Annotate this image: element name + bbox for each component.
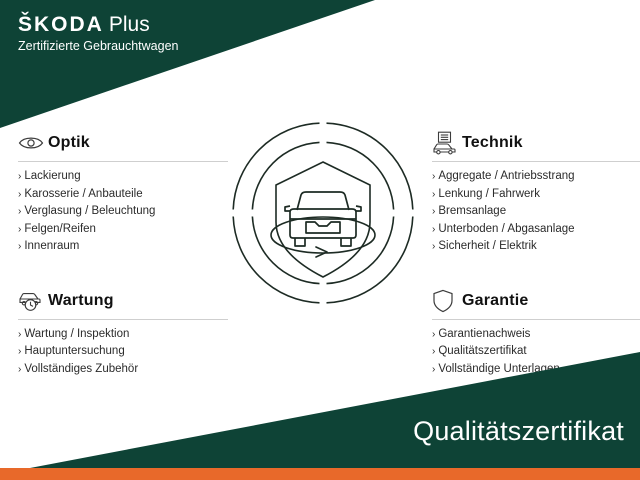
chevron-icon: ›: [432, 327, 435, 344]
logo-skoda-wordmark: ŠKODA: [18, 13, 104, 36]
brand-logo: ŠKODAPlus Zertifizierte Gebrauchtwagen: [18, 12, 179, 54]
list-item: ›Innenraum: [18, 238, 228, 256]
section-wartung-header: Wartung: [18, 288, 228, 314]
list-item: ›Felgen/Reifen: [18, 221, 228, 239]
chevron-icon: ›: [18, 169, 21, 186]
chevron-icon: ›: [432, 344, 435, 361]
chevron-icon: ›: [18, 204, 21, 221]
car-service-clock-icon: [18, 289, 48, 313]
section-divider: [18, 161, 228, 162]
section-divider: [432, 161, 640, 162]
chevron-icon: ›: [18, 362, 21, 379]
chevron-icon: ›: [432, 362, 435, 379]
list-item-label: Lackierung: [24, 168, 80, 185]
chevron-icon: ›: [432, 187, 435, 204]
chevron-icon: ›: [432, 204, 435, 221]
section-technik-list: ›Aggregate / Antriebsstrang ›Lenkung / F…: [432, 168, 640, 256]
list-item: ›Karosserie / Anbauteile: [18, 186, 228, 204]
list-item: ›Sicherheit / Elektrik: [432, 238, 640, 256]
chevron-icon: ›: [18, 327, 21, 344]
chevron-icon: ›: [18, 344, 21, 361]
list-item-label: Unterboden / Abgasanlage: [438, 221, 574, 238]
eye-icon: [18, 131, 48, 155]
list-item: ›Qualitätszertifikat: [432, 343, 640, 361]
right-column: Technik ›Aggregate / Antriebsstrang ›Len…: [432, 130, 640, 384]
section-divider: [18, 319, 228, 320]
chevron-icon: ›: [18, 222, 21, 239]
list-item-label: Bremsanlage: [438, 203, 506, 220]
section-optik-title: Optik: [48, 134, 90, 152]
logo-primary: ŠKODAPlus: [18, 12, 179, 37]
list-item: ›Verglasung / Beleuchtung: [18, 203, 228, 221]
chevron-icon: ›: [432, 169, 435, 186]
list-item-label: Aggregate / Antriebsstrang: [438, 168, 574, 185]
section-wartung-title: Wartung: [48, 292, 114, 310]
list-item: ›Unterboden / Abgasanlage: [432, 221, 640, 239]
chevron-icon: ›: [18, 187, 21, 204]
list-item-label: Felgen/Reifen: [24, 221, 96, 238]
shield-icon: [432, 289, 462, 313]
logo-plus-wordmark: Plus: [109, 13, 150, 36]
section-technik: Technik ›Aggregate / Antriebsstrang ›Len…: [432, 130, 640, 256]
section-technik-title: Technik: [462, 134, 523, 152]
list-item-label: Qualitätszertifikat: [438, 343, 526, 360]
car-document-icon: [432, 131, 462, 155]
section-wartung-list: ›Wartung / Inspektion ›Hauptuntersuchung…: [18, 326, 228, 379]
list-item-label: Garantienachweis: [438, 326, 530, 343]
list-item: ›Wartung / Inspektion: [18, 326, 228, 344]
section-garantie-header: Garantie: [432, 288, 640, 314]
list-item-label: Verglasung / Beleuchtung: [24, 203, 155, 220]
list-item-label: Innenraum: [24, 238, 79, 255]
list-item-label: Sicherheit / Elektrik: [438, 238, 536, 255]
section-optik-header: Optik: [18, 130, 228, 156]
list-item: ›Lenkung / Fahrwerk: [432, 186, 640, 204]
list-item: ›Lackierung: [18, 168, 228, 186]
section-garantie-title: Garantie: [462, 292, 529, 310]
list-item: ›Bremsanlage: [432, 203, 640, 221]
list-item-label: Wartung / Inspektion: [24, 326, 129, 343]
logo-tagline: Zertifizierte Gebrauchtwagen: [18, 38, 179, 54]
list-item: ›Garantienachweis: [432, 326, 640, 344]
list-item-label: Vollständiges Zubehör: [24, 361, 138, 378]
certificate-page: ŠKODAPlus Zertifizierte Gebrauchtwagen O…: [0, 0, 640, 480]
section-divider: [432, 319, 640, 320]
list-item: ›Aggregate / Antriebsstrang: [432, 168, 640, 186]
list-item: ›Hauptuntersuchung: [18, 343, 228, 361]
accent-bar: [0, 468, 640, 480]
chevron-icon: ›: [18, 239, 21, 256]
section-wartung: Wartung ›Wartung / Inspektion ›Hauptunte…: [18, 288, 228, 379]
list-item: ›Vollständiges Zubehör: [18, 361, 228, 379]
section-optik: Optik ›Lackierung ›Karosserie / Anbautei…: [18, 130, 228, 256]
list-item-label: Hauptuntersuchung: [24, 343, 124, 360]
car-in-shield-emblem: [228, 118, 418, 308]
list-item-label: Karosserie / Anbauteile: [24, 186, 142, 203]
section-technik-header: Technik: [432, 130, 640, 156]
chevron-icon: ›: [432, 222, 435, 239]
section-optik-list: ›Lackierung ›Karosserie / Anbauteile ›Ve…: [18, 168, 228, 256]
list-item-label: Lenkung / Fahrwerk: [438, 186, 540, 203]
footer-title: Qualitätszertifikat: [413, 416, 624, 447]
chevron-icon: ›: [432, 239, 435, 256]
left-column: Optik ›Lackierung ›Karosserie / Anbautei…: [18, 130, 228, 384]
